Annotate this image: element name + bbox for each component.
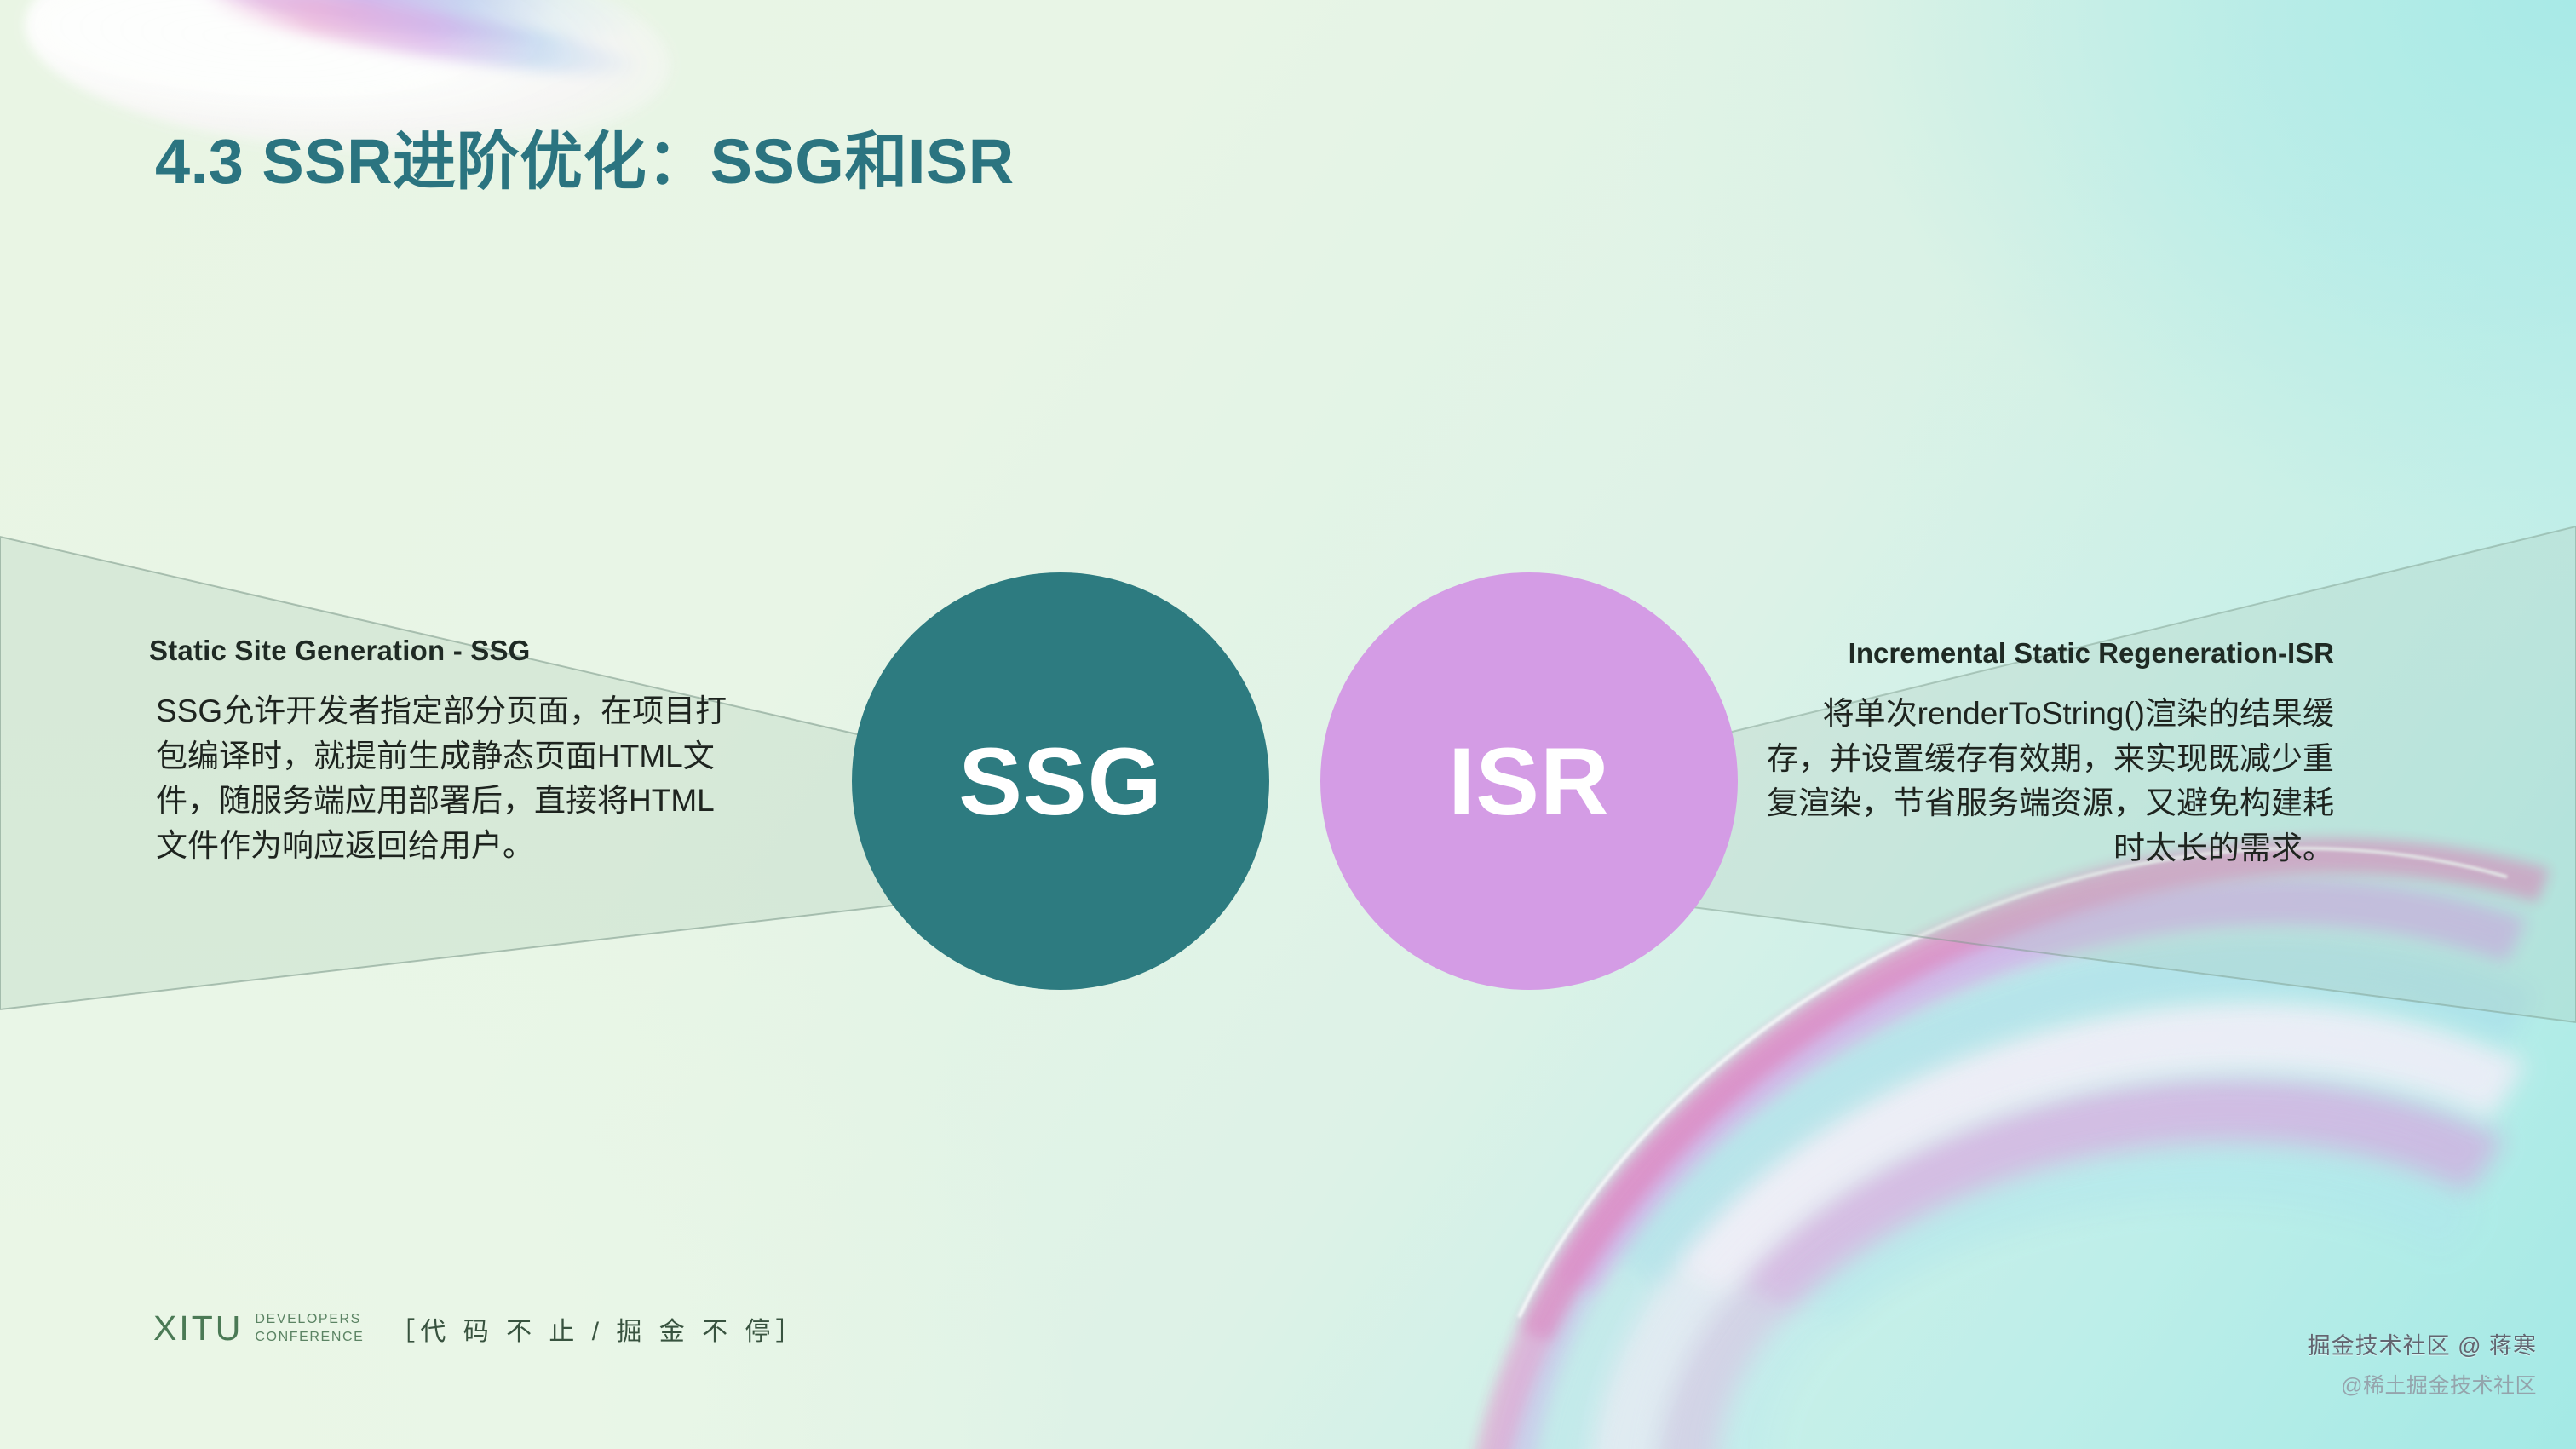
- watermark-community: @稀土掘金技术社区: [2308, 1369, 2537, 1400]
- xitu-logo-subtitle: DEVELOPERS CONFERENCE: [255, 1311, 364, 1346]
- ssg-body-text: SSG允许开发者指定部分页面，在项目打包编译时，就提前生成静态页面HTML文件，…: [149, 689, 728, 868]
- isr-body-text: 将单次renderToString()渲染的结果缓存，并设置缓存有效期，来实现既…: [1762, 692, 2334, 871]
- ssg-description-block: Static Site Generation - SSG SSG允许开发者指定部…: [149, 635, 745, 868]
- diagram-node-ssg-label: SSG: [958, 727, 1163, 837]
- xitu-logo-subtitle-line2: CONFERENCE: [255, 1329, 364, 1346]
- diagram-node-ssg[interactable]: SSG: [852, 572, 1269, 990]
- arc-band: [1686, 1099, 2576, 1449]
- diagram-node-isr-label: ISR: [1448, 727, 1610, 837]
- arc-band: [1500, 893, 2576, 1449]
- ssg-heading: Static Site Generation - SSG: [149, 635, 745, 667]
- arc-band: [1596, 999, 2576, 1449]
- swoosh-band: [160, 0, 643, 60]
- swoosh-band: [201, 0, 646, 89]
- presentation-slide: 4.3 SSR进阶优化：SSG和ISR SSG ISR Static Site …: [0, 0, 2576, 1449]
- xitu-conference-logo: XITU DEVELOPERS CONFERENCE: [153, 1308, 364, 1348]
- xitu-logo-subtitle-line1: DEVELOPERS: [255, 1311, 364, 1328]
- footer-slogan: ［代 码 不 止 / 掘 金 不 停］: [389, 1310, 806, 1348]
- isr-description-block: Incremental Static Regeneration-ISR 将单次r…: [1738, 637, 2334, 871]
- diagram-node-isr[interactable]: ISR: [1320, 572, 1738, 990]
- xitu-logo-wordmark: XITU: [153, 1308, 243, 1348]
- watermark-author: 掘金技术社区 @ 蒋寒: [2308, 1327, 2537, 1360]
- watermark: 掘金技术社区 @ 蒋寒 @稀土掘金技术社区: [2308, 1327, 2537, 1400]
- isr-heading: Incremental Static Regeneration-ISR: [1738, 637, 2334, 670]
- slide-title: 4.3 SSR进阶优化：SSG和ISR: [155, 111, 1015, 202]
- footer: XITU DEVELOPERS CONFERENCE ［代 码 不 止 / 掘 …: [153, 1308, 806, 1348]
